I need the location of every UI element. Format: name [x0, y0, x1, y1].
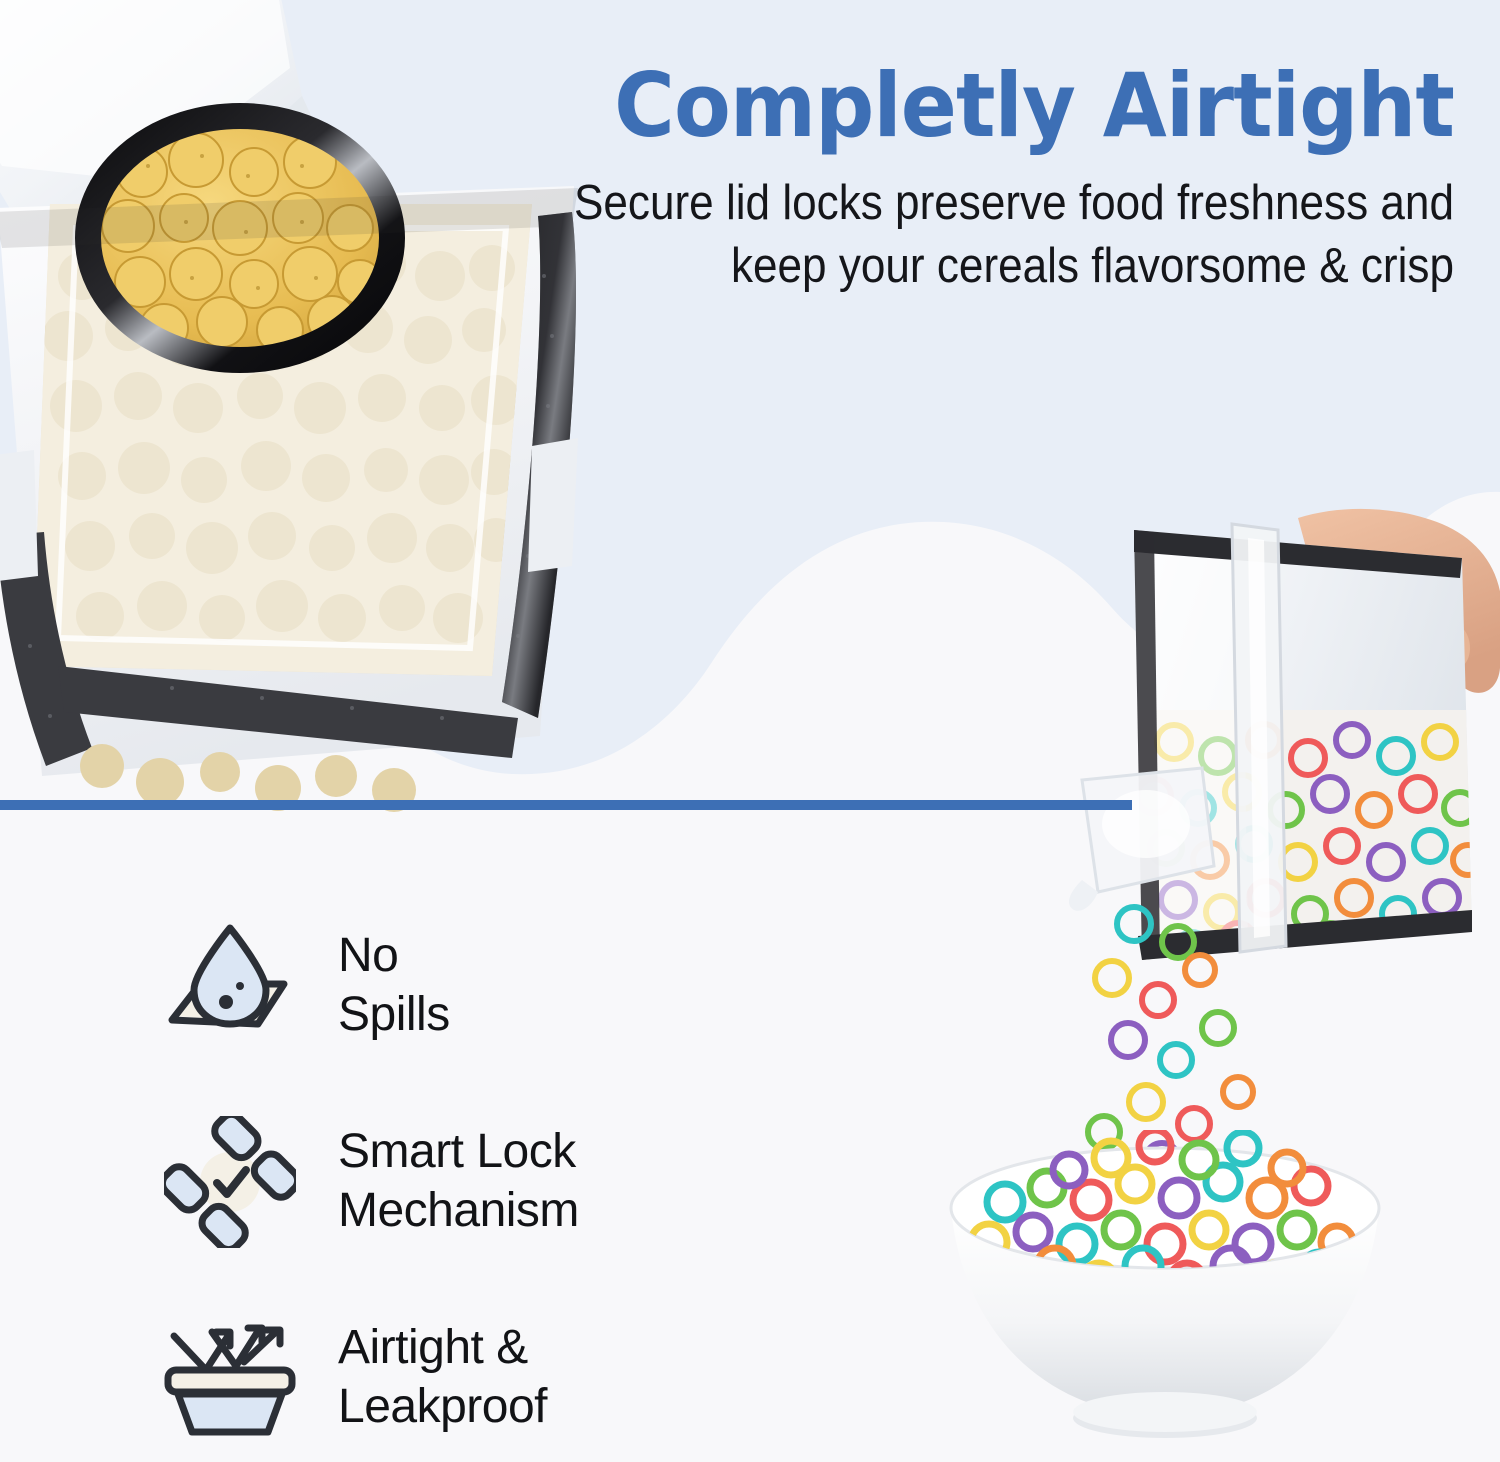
hand-pouring-container-photo	[1042, 500, 1500, 1180]
feature-label-line1: Smart Lock	[338, 1123, 579, 1182]
feature-label-no-spills: No Spills	[338, 927, 450, 1044]
feature-label-line2: Mechanism	[338, 1182, 579, 1241]
page-title: Completly Airtight	[505, 62, 1454, 150]
page-subtitle: Secure lid locks preserve food freshness…	[545, 172, 1454, 297]
blue-section-divider	[0, 800, 1132, 810]
feature-label-line2: Spills	[338, 986, 450, 1045]
feature-label-line2: Leakproof	[338, 1378, 547, 1437]
feature-label-line1: Airtight &	[338, 1319, 547, 1378]
page-subtitle-line1: Secure lid locks preserve food freshness…	[545, 172, 1454, 235]
feature-list: No Spills	[150, 888, 710, 1462]
cereal-bowl-photo	[905, 1130, 1425, 1460]
feature-item-no-spills: No Spills	[150, 888, 710, 1084]
water-droplet-on-surface-icon	[150, 924, 310, 1048]
airtight-container-arrows-icon	[150, 1314, 310, 1442]
feature-label-smart-lock: Smart Lock Mechanism	[338, 1123, 579, 1240]
page-subtitle-line2: keep your cereals flavorsome & crisp	[545, 235, 1454, 298]
smart-lock-checkmark-icon	[150, 1116, 310, 1248]
product-feature-banner: Completly Airtight Secure lid locks pres…	[0, 0, 1500, 1462]
feature-item-smart-lock: Smart Lock Mechanism	[150, 1084, 710, 1280]
feature-label-line1: No	[338, 927, 450, 986]
headline-block: Completly Airtight Secure lid locks pres…	[444, 62, 1454, 297]
feature-label-airtight-leakproof: Airtight & Leakproof	[338, 1319, 547, 1436]
feature-item-airtight-leakproof: Airtight & Leakproof	[150, 1280, 710, 1462]
